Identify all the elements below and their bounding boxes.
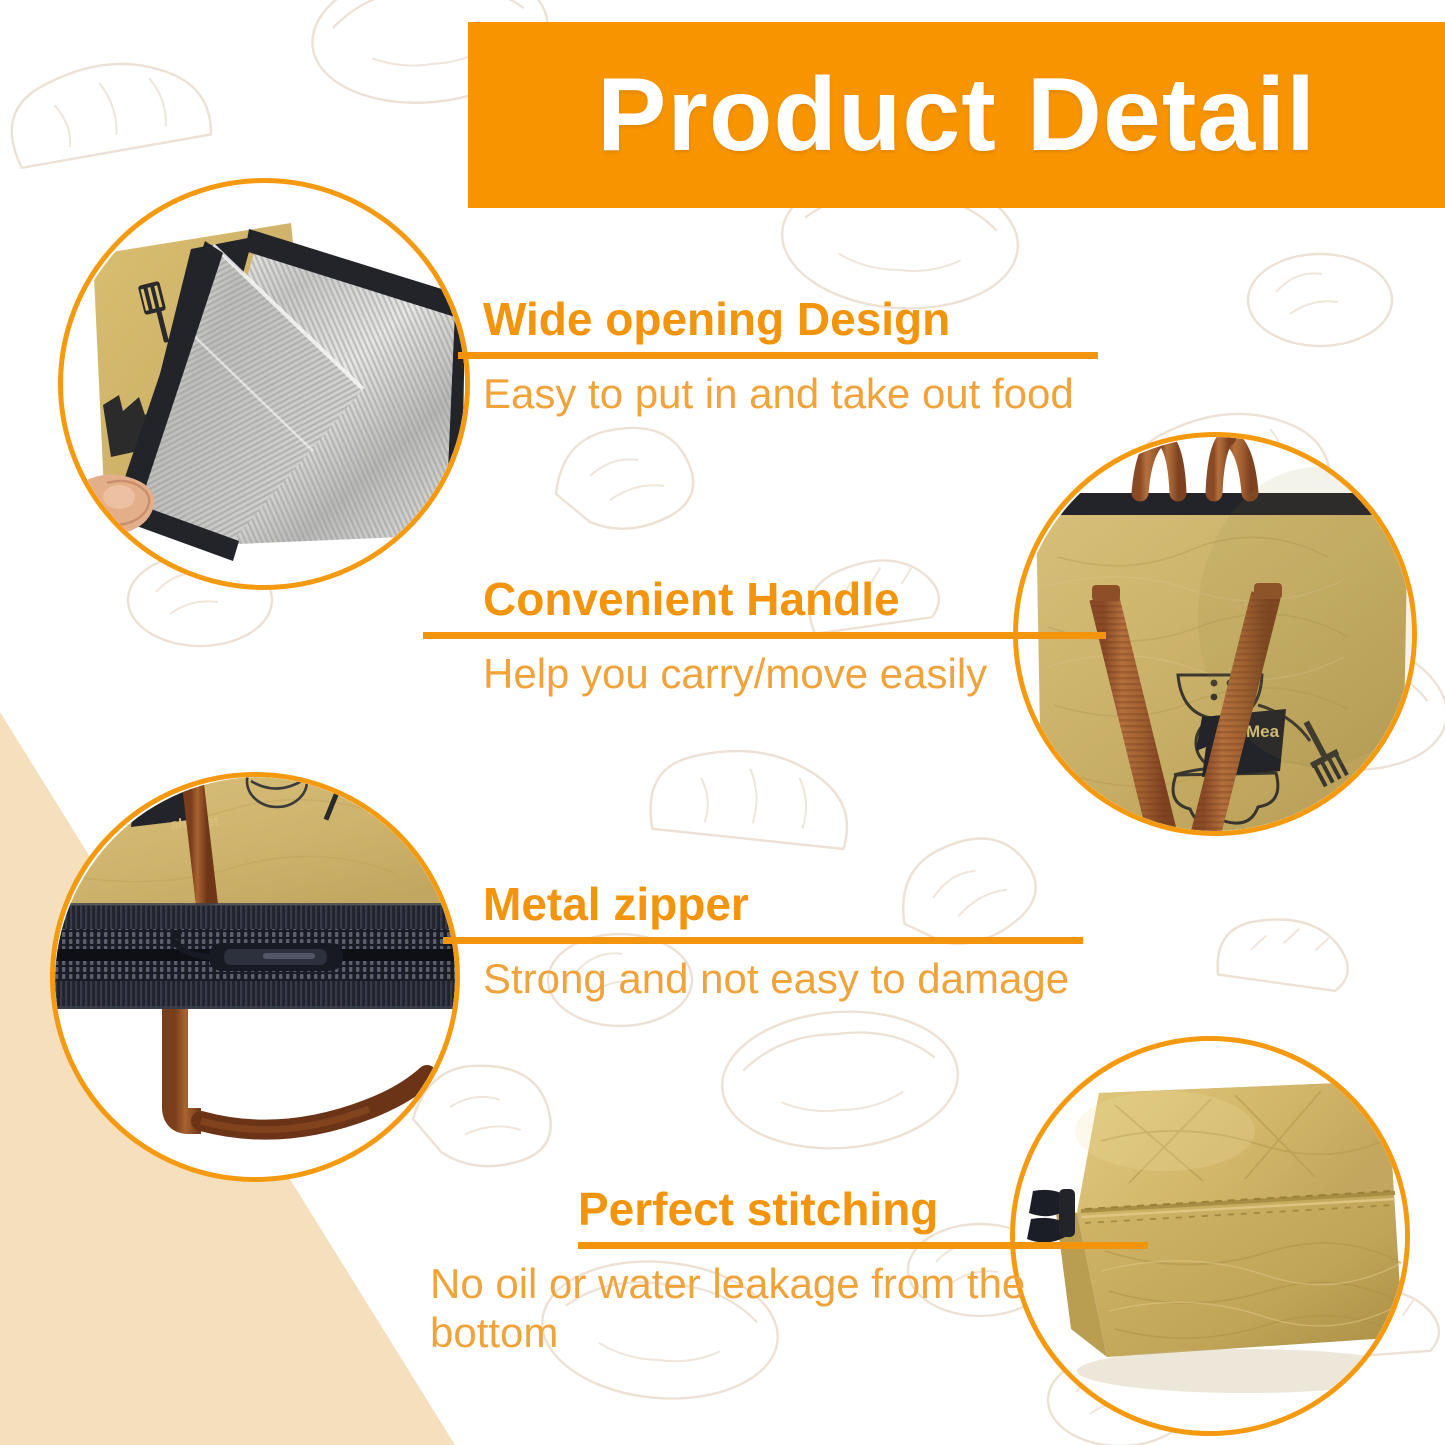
photo-circle-wide-opening [58,178,470,590]
feature-subtitle-metal-zipper: Strong and not easy to damage [483,954,1183,1004]
feature-rule [578,1242,1148,1249]
feature-rule [423,632,1106,639]
feature-text-metal-zipper: Metal zipper Strong and not easy to dama… [483,880,1183,1003]
feature-subtitle-perfect-stitching: No oil or water leakage from the bottom [430,1259,1090,1358]
product-detail-infographic: Product Detail [0,0,1445,1445]
feature-rule [458,352,1098,359]
feature-title-convenient-handle: Convenient Handle [483,575,1183,625]
feature-subtitle-convenient-handle: Help you carry/move easily [483,649,1183,699]
feature-rule [443,937,1083,944]
page-title: Product Detail [597,63,1316,167]
page-title-banner: Product Detail [468,22,1445,208]
feature-text-perfect-stitching: Perfect stitching No oil or water leakag… [430,1185,1090,1358]
feature-text-convenient-handle: Convenient Handle Help you carry/move ea… [483,575,1183,698]
photo-circle-metal-zipper: alenket [50,772,460,1182]
feature-subtitle-wide-opening: Easy to put in and take out food [483,369,1183,419]
black-zipper-closure-photo: alenket [55,777,455,1177]
feature-text-wide-opening: Wide opening Design Easy to put in and t… [483,295,1183,418]
foil-lining-peeled-open-photo [63,183,465,585]
feature-title-perfect-stitching: Perfect stitching [430,1185,1090,1235]
feature-title-metal-zipper: Metal zipper [483,880,1183,930]
feature-title-wide-opening: Wide opening Design [483,295,1183,345]
